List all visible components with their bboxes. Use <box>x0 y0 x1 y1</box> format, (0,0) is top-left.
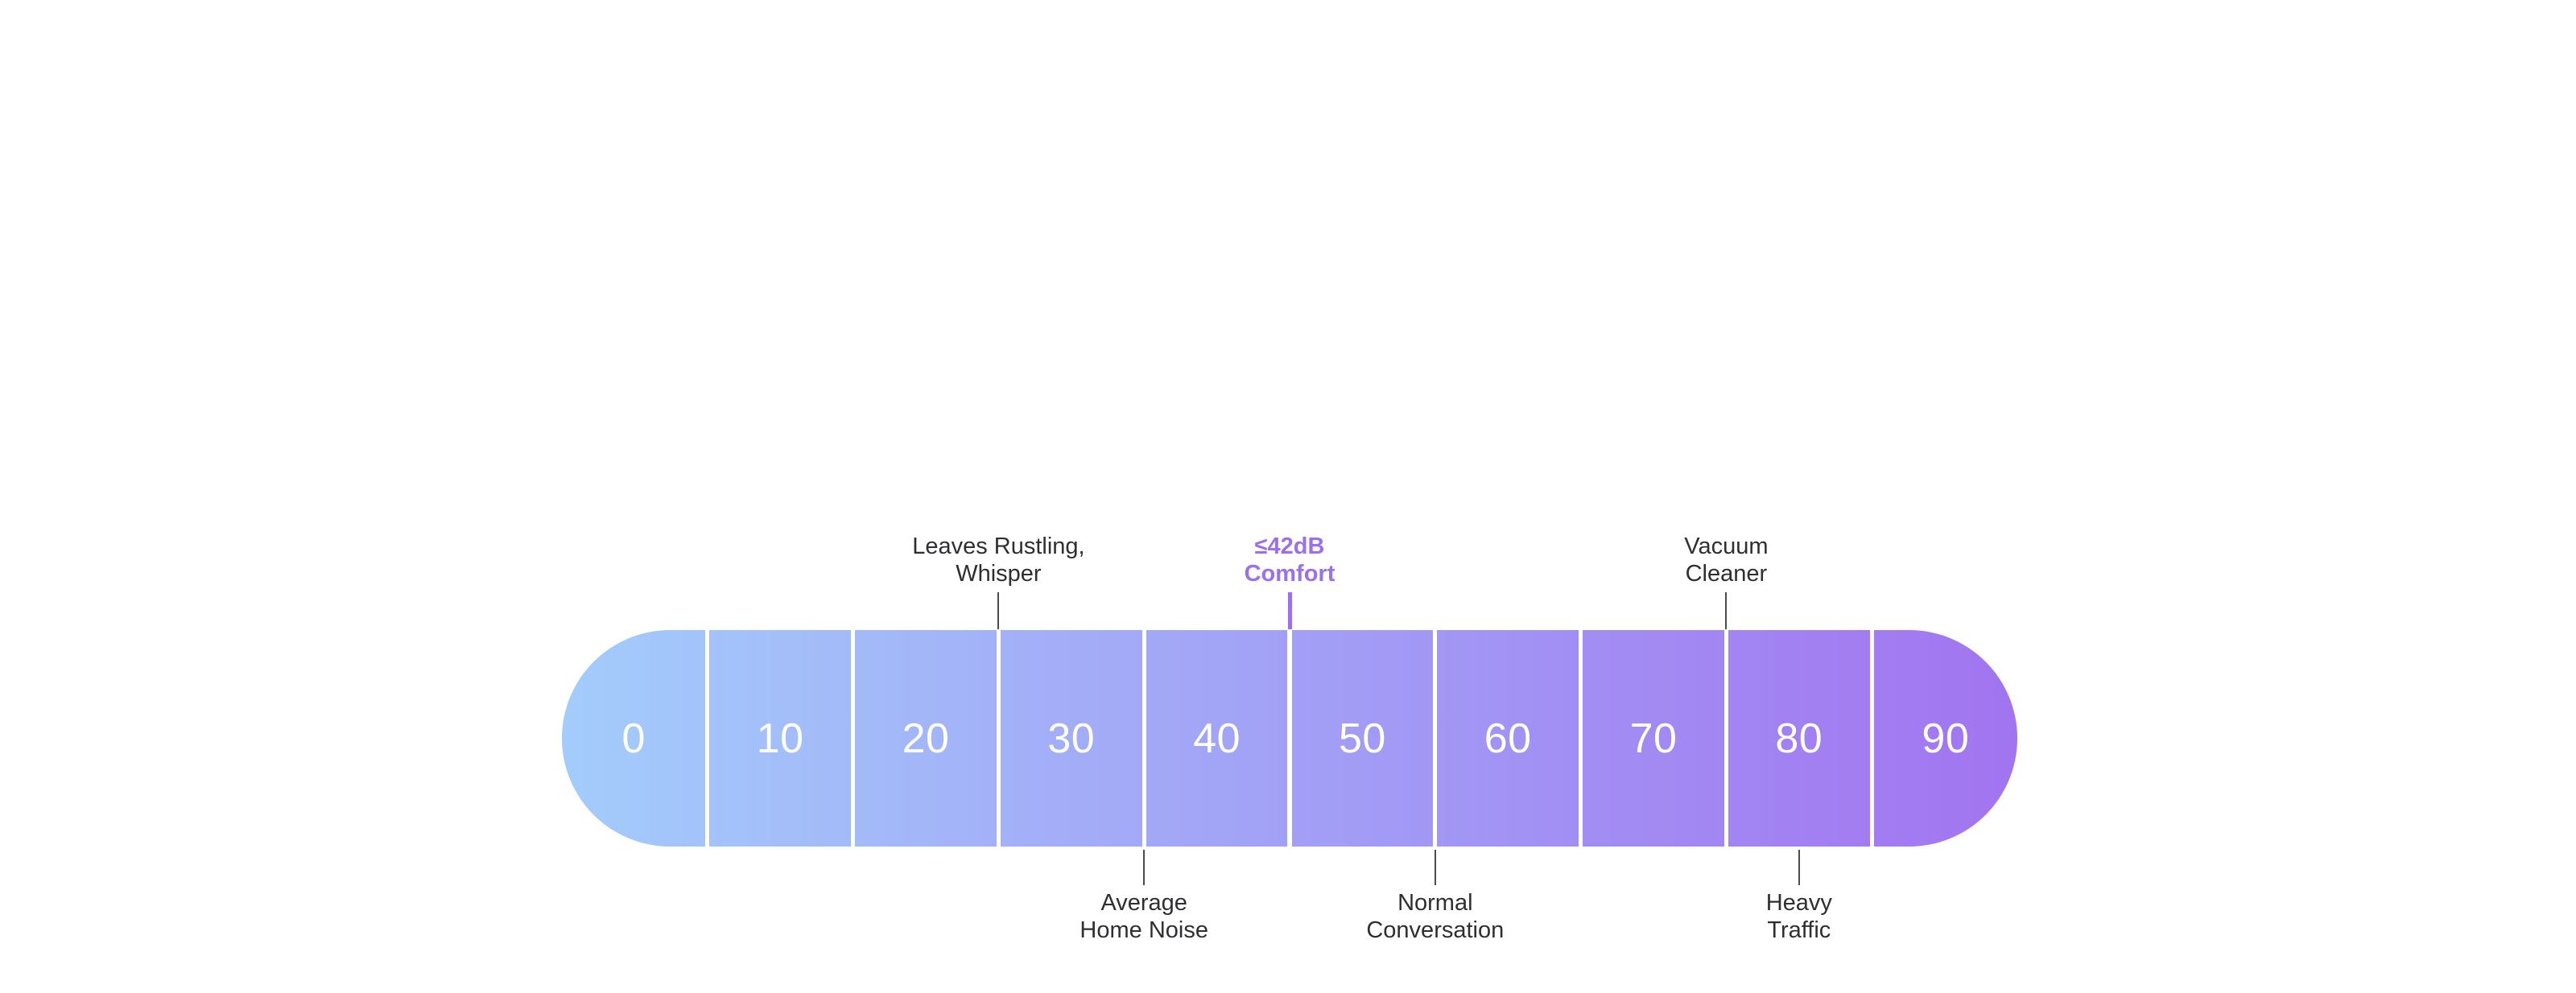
segment-value-label: 10 <box>757 718 804 760</box>
bar-segment-30db: 30 <box>1001 630 1142 847</box>
callout-tick-mark <box>1798 850 1800 885</box>
callout-label: ≤42dB Comfort <box>1145 534 1435 587</box>
bar-segment-50db: 50 <box>1292 630 1434 847</box>
callout-below-0: Average Home Noise <box>999 850 1289 944</box>
segment-value-label: 40 <box>1193 718 1241 760</box>
bar-segment-60db: 60 <box>1437 630 1579 847</box>
callout-above-0: Leaves Rustling, Whisper <box>853 534 1143 629</box>
callout-label: Heavy Traffic <box>1654 890 1944 944</box>
callout-tick-mark <box>1725 592 1727 629</box>
segment-value-label: 0 <box>621 718 645 760</box>
callout-tick-mark <box>1435 850 1436 885</box>
segment-value-label: 50 <box>1339 718 1386 760</box>
callout-tick-mark <box>997 592 999 629</box>
bar-segment-0db: 0 <box>562 630 705 847</box>
callout-below-1: Normal Conversation <box>1290 850 1580 944</box>
callout-above-1: ≤42dB Comfort <box>1145 534 1435 629</box>
callout-below-2: Heavy Traffic <box>1654 850 1944 944</box>
segment-value-label: 20 <box>902 718 950 760</box>
callout-label: Leaves Rustling, Whisper <box>853 534 1143 587</box>
callout-label: Normal Conversation <box>1290 890 1580 944</box>
decibel-gradient-bar: 0102030405060708090 <box>562 630 2017 847</box>
callout-tick-mark <box>1288 592 1292 629</box>
bar-segment-70db: 70 <box>1583 630 1724 847</box>
bar-segment-20db: 20 <box>855 630 997 847</box>
bar-segment-10db: 10 <box>709 630 851 847</box>
noise-level-scale-figure: 0102030405060708090 Leaves Rustling, Whi… <box>0 0 2576 993</box>
callout-tick-mark <box>1143 850 1145 885</box>
callout-label: Average Home Noise <box>999 890 1289 944</box>
segment-value-label: 90 <box>1922 718 1969 760</box>
segment-value-label: 80 <box>1775 718 1823 760</box>
callout-above-2: Vacuum Cleaner <box>1581 534 1871 629</box>
callout-label: Vacuum Cleaner <box>1581 534 1871 587</box>
segment-value-label: 70 <box>1630 718 1678 760</box>
bar-segment-90db: 90 <box>1874 630 2017 847</box>
bar-segment-40db: 40 <box>1146 630 1288 847</box>
bar-segment-80db: 80 <box>1728 630 1870 847</box>
segment-value-label: 60 <box>1484 718 1532 760</box>
segment-value-label: 30 <box>1047 718 1095 760</box>
